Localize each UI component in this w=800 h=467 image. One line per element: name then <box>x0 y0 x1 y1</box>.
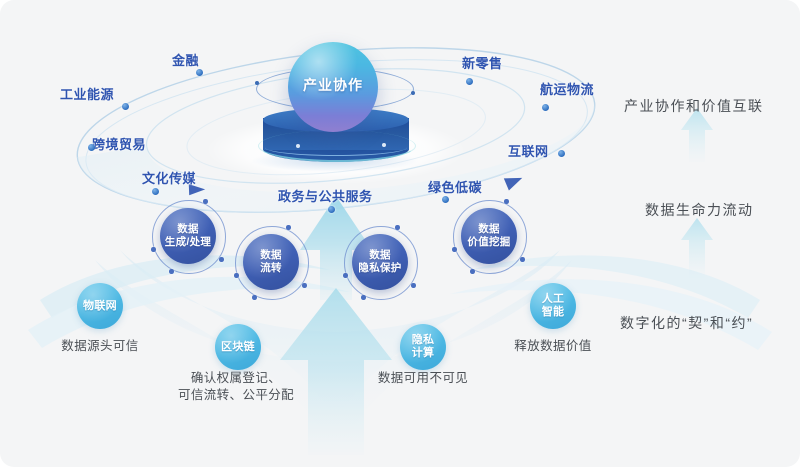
orbit-dot-4 <box>328 206 335 213</box>
technology-circle-3[interactable]: 人工智能 <box>530 283 576 329</box>
orbit-label-2[interactable]: 跨境贸易 <box>92 134 146 153</box>
infographic-canvas: 产业协作 金融工业能源跨境贸易文化传媒政务与公共服务绿色低碳互联网航运物流新零售… <box>0 0 800 467</box>
orbit-label-8[interactable]: 新零售 <box>462 53 503 72</box>
ring-node-right <box>411 91 415 95</box>
stage-ring-node-0-1 <box>151 247 156 252</box>
stage-ring-node-3-0 <box>504 199 509 204</box>
technology-caption-0: 数据源头可信 <box>61 338 138 355</box>
stage-ring-node-3-2 <box>520 257 525 262</box>
ring-node-left <box>255 81 259 85</box>
stage-circle-1[interactable]: 数据流转 <box>243 234 299 290</box>
orbit-dot-0 <box>196 69 203 76</box>
technology-circle-1[interactable]: 区块链 <box>215 324 261 370</box>
orbit-label-3[interactable]: 文化传媒 <box>142 168 196 187</box>
orbit-dot-1 <box>122 103 129 110</box>
platform-highlight-line <box>265 139 407 156</box>
central-sphere-label: 产业协作 <box>288 75 378 95</box>
platform-dot-left <box>296 144 300 148</box>
stage-circle-2[interactable]: 数据隐私保护 <box>352 234 408 290</box>
stage-ring-node-2-3 <box>361 295 366 300</box>
stage-ring-node-2-1 <box>343 273 348 278</box>
stage-ring-node-0-3 <box>169 269 174 274</box>
technology-caption-3: 释放数据价值 <box>514 338 591 355</box>
right-caption-1: 数据生命力流动 <box>645 200 754 220</box>
technology-label-2: 隐私计算 <box>412 334 435 360</box>
technology-circle-0[interactable]: 物联网 <box>77 283 123 329</box>
stage-label-2: 数据隐私保护 <box>358 249 401 275</box>
central-sphere[interactable]: 产业协作 <box>288 42 378 132</box>
orbit-label-4[interactable]: 政务与公共服务 <box>278 186 373 205</box>
orbit-label-7[interactable]: 航运物流 <box>540 79 594 98</box>
stage-ring-node-2-0 <box>395 225 400 230</box>
stage-ring-node-1-2 <box>302 283 307 288</box>
orbit-dot-5 <box>442 196 449 203</box>
orbit-dot-7 <box>542 104 549 111</box>
orbit-dot-8 <box>466 78 473 85</box>
stage-label-3: 数据价值挖掘 <box>467 223 510 249</box>
stage-label-1: 数据流转 <box>260 249 282 275</box>
stage-ring-node-1-1 <box>234 273 239 278</box>
stage-ring-node-1-0 <box>286 225 291 230</box>
right-caption-0: 产业协作和价值互联 <box>624 96 764 116</box>
technology-label-3: 人工智能 <box>542 293 565 319</box>
stage-label-0: 数据生成/处理 <box>165 223 211 249</box>
stage-circle-0[interactable]: 数据生成/处理 <box>160 208 216 264</box>
orbit-dot-2 <box>88 144 95 151</box>
technology-label-0: 物联网 <box>83 300 117 313</box>
orbit-dot-6 <box>558 150 565 157</box>
stage-ring-node-3-3 <box>470 269 475 274</box>
stage-ring-node-1-3 <box>252 295 257 300</box>
technology-caption-1: 确认权属登记、可信流转、公平分配 <box>178 370 294 404</box>
stage-ring-node-2-2 <box>411 283 416 288</box>
technology-label-1: 区块链 <box>221 341 255 354</box>
stage-ring-node-0-2 <box>219 257 224 262</box>
stage-ring-node-0-0 <box>203 199 208 204</box>
platform-dot-right <box>382 143 386 147</box>
technology-caption-2: 数据可用不可见 <box>378 370 468 387</box>
stage-circle-3[interactable]: 数据价值挖掘 <box>461 208 517 264</box>
orbit-label-6[interactable]: 互联网 <box>508 141 549 160</box>
orbit-label-5[interactable]: 绿色低碳 <box>428 177 482 196</box>
orbit-label-0[interactable]: 金融 <box>172 50 199 69</box>
right-caption-2: 数字化的“契”和“约” <box>620 313 753 333</box>
orbit-dot-3 <box>152 188 159 195</box>
stage-ring-node-3-1 <box>452 247 457 252</box>
technology-circle-2[interactable]: 隐私计算 <box>400 324 446 370</box>
orbit-label-1[interactable]: 工业能源 <box>60 84 114 103</box>
